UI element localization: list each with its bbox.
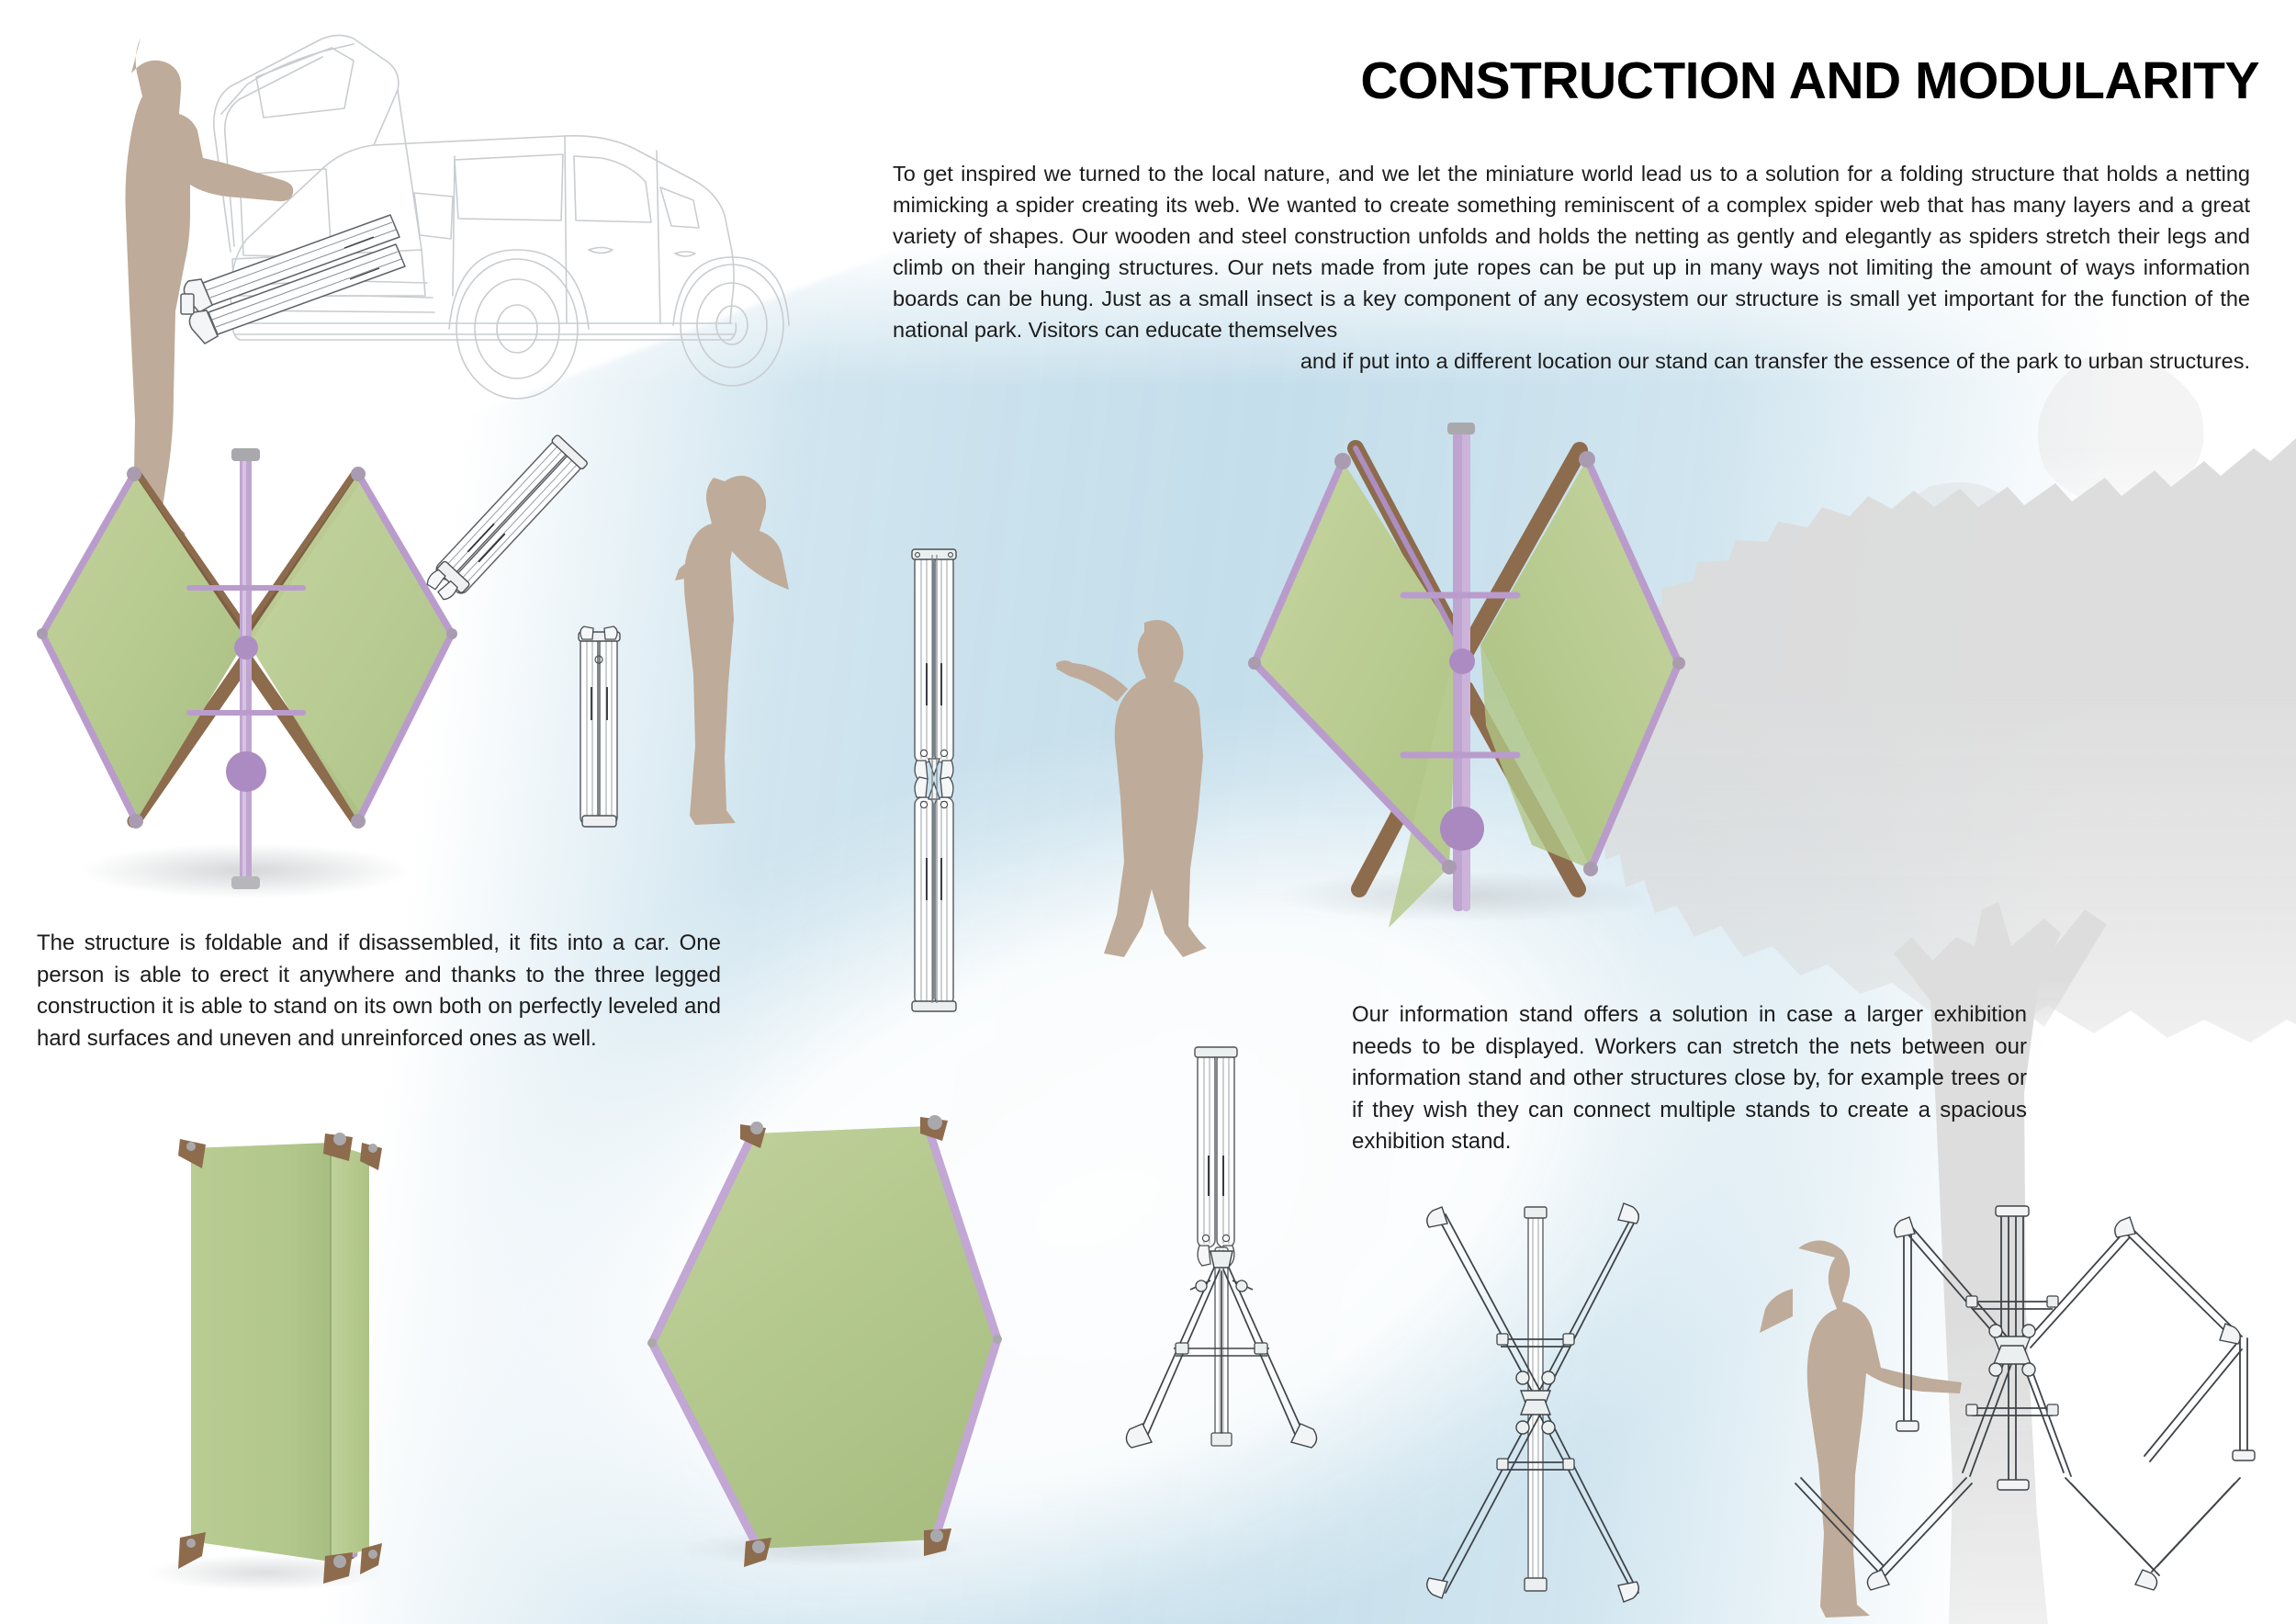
car-trunk-loading-illustration xyxy=(51,20,776,406)
caption-foldable: The structure is foldable and if disasse… xyxy=(37,928,721,1054)
presentation-board: CONSTRUCTION AND MODULARITY To get inspi… xyxy=(0,0,2296,1624)
intro-paragraph: To get inspired we turned to the local n… xyxy=(893,158,2250,377)
expanded-scissor-modules-technical-drawing xyxy=(1832,1180,2296,1621)
caption-exhibition: Our information stand offers a solution … xyxy=(1352,999,2027,1158)
page-title: CONSTRUCTION AND MODULARITY xyxy=(1176,55,2259,107)
folded-column-technical-drawing xyxy=(884,544,994,1014)
intro-main-text: To get inspired we turned to the local n… xyxy=(893,162,2250,342)
folded-stand-open-front-render xyxy=(28,441,459,909)
human-silhouette-pointing xyxy=(1056,615,1203,1010)
x-frame-scissor-technical-drawing xyxy=(1398,1187,1701,1600)
intro-last-line: and if put into a different location our… xyxy=(893,345,2250,377)
hexagonal-information-board-render xyxy=(625,1102,1019,1571)
tall-information-board-render xyxy=(119,1102,432,1598)
folded-stand-open-perspective-render xyxy=(1221,413,1708,928)
folded-module-in-trunk xyxy=(181,215,405,344)
tripod-base-technical-drawing xyxy=(1122,1040,1338,1462)
human-silhouette-touching-module xyxy=(675,468,794,836)
